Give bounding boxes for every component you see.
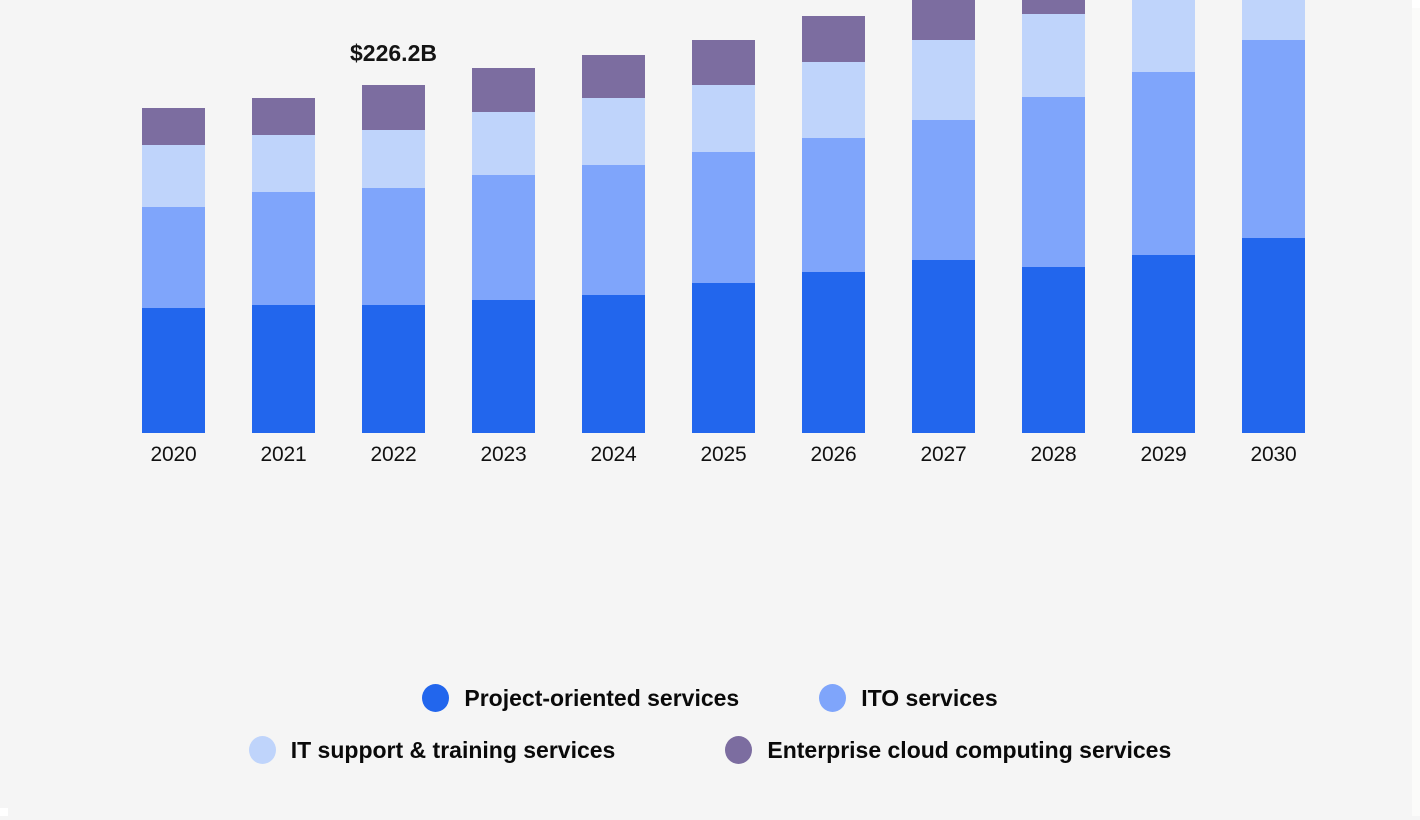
bar-segment-enterprise-cloud-computing-services[interactable]: [142, 108, 205, 145]
bar-stack: [472, 68, 535, 433]
bar-segment-ito-services[interactable]: [252, 192, 315, 305]
bar-stack: [692, 40, 755, 433]
bar-segment-enterprise-cloud-computing-services[interactable]: [252, 98, 315, 135]
bar-segment-project-oriented-services[interactable]: [582, 295, 645, 433]
bar-segment-enterprise-cloud-computing-services[interactable]: [582, 55, 645, 98]
chart-legend: Project-oriented services ITO services I…: [0, 672, 1420, 776]
legend-item-enterprise-cloud-computing-services[interactable]: Enterprise cloud computing services: [725, 736, 1171, 764]
x-axis-tick-label-2030: 2030: [1218, 443, 1329, 467]
bar-segment-it-support-training-services[interactable]: [252, 135, 315, 192]
legend-label: Enterprise cloud computing services: [767, 737, 1171, 764]
bar-segment-project-oriented-services[interactable]: [802, 272, 865, 433]
bar-segment-project-oriented-services[interactable]: [1242, 238, 1305, 433]
bar-value-label-2022: $226.2B: [338, 40, 449, 67]
bar-segment-it-support-training-services[interactable]: [142, 145, 205, 207]
x-axis-tick-label-2021: 2021: [228, 443, 339, 467]
x-axis-tick-label-2025: 2025: [668, 443, 779, 467]
bar-segment-it-support-training-services[interactable]: [1242, 0, 1305, 40]
bar-segment-project-oriented-services[interactable]: [472, 300, 535, 433]
legend-row-1: Project-oriented services ITO services: [0, 672, 1420, 724]
legend-swatch-icon: [725, 736, 752, 764]
legend-row-2: IT support & training services Enterpris…: [0, 724, 1420, 776]
bar-segment-it-support-training-services[interactable]: [1132, 0, 1195, 72]
x-axis-tick-label-2024: 2024: [558, 443, 669, 467]
bar-segment-ito-services[interactable]: [142, 207, 205, 308]
legend-swatch-icon: [249, 736, 276, 764]
bar-segment-project-oriented-services[interactable]: [1132, 255, 1195, 433]
bar-segment-ito-services[interactable]: [912, 120, 975, 260]
bar-segment-enterprise-cloud-computing-services[interactable]: [912, 0, 975, 40]
bar-segment-project-oriented-services[interactable]: [362, 305, 425, 433]
legend-item-it-support-training-services[interactable]: IT support & training services: [249, 736, 616, 764]
bar-segment-it-support-training-services[interactable]: [362, 130, 425, 188]
bar-segment-enterprise-cloud-computing-services[interactable]: [692, 40, 755, 85]
bar-segment-ito-services[interactable]: [1022, 97, 1085, 267]
bar-segment-enterprise-cloud-computing-services[interactable]: [362, 85, 425, 130]
bar-segment-project-oriented-services[interactable]: [692, 283, 755, 433]
x-axis-tick-label-2028: 2028: [998, 443, 1109, 467]
stacked-bar-chart: 20202021$226.2B2022202320242025202620272…: [0, 0, 1420, 660]
bar-segment-enterprise-cloud-computing-services[interactable]: [1022, 0, 1085, 14]
legend-item-project-oriented-services[interactable]: Project-oriented services: [422, 684, 739, 712]
x-axis-tick-label-2022: 2022: [338, 443, 449, 467]
x-axis-tick-label-2023: 2023: [448, 443, 559, 467]
bar-stack: [362, 85, 425, 433]
x-axis-tick-label-2020: 2020: [118, 443, 229, 467]
legend-label: ITO services: [861, 685, 997, 712]
bar-stack: [1132, 0, 1195, 433]
bar-stack: [142, 108, 205, 433]
bar-stack: [252, 98, 315, 433]
x-axis-tick-label-2029: 2029: [1108, 443, 1219, 467]
bar-stack: [1242, 0, 1305, 433]
bar-segment-it-support-training-services[interactable]: [1022, 14, 1085, 97]
bar-segment-project-oriented-services[interactable]: [1022, 267, 1085, 433]
bar-segment-ito-services[interactable]: [1132, 72, 1195, 255]
page-edge-bottom: [0, 816, 1420, 820]
bar-segment-it-support-training-services[interactable]: [802, 62, 865, 138]
bar-segment-ito-services[interactable]: [472, 175, 535, 300]
bar-stack: [1022, 0, 1085, 433]
bar-segment-ito-services[interactable]: [692, 152, 755, 283]
bar-stack: [802, 16, 865, 433]
bar-segment-ito-services[interactable]: [362, 188, 425, 305]
bar-segment-it-support-training-services[interactable]: [912, 40, 975, 120]
bar-segment-it-support-training-services[interactable]: [692, 85, 755, 152]
bar-segment-project-oriented-services[interactable]: [252, 305, 315, 433]
bar-segment-ito-services[interactable]: [582, 165, 645, 295]
bar-segment-ito-services[interactable]: [1242, 40, 1305, 238]
bar-segment-project-oriented-services[interactable]: [912, 260, 975, 433]
x-axis-tick-label-2026: 2026: [778, 443, 889, 467]
bar-segment-project-oriented-services[interactable]: [142, 308, 205, 433]
bar-stack: [582, 55, 645, 433]
bar-segment-it-support-training-services[interactable]: [582, 98, 645, 165]
legend-label: IT support & training services: [291, 737, 616, 764]
legend-swatch-icon: [422, 684, 449, 712]
bar-stack: [912, 0, 975, 433]
legend-swatch-icon: [819, 684, 846, 712]
legend-label: Project-oriented services: [464, 685, 739, 712]
bar-segment-it-support-training-services[interactable]: [472, 112, 535, 175]
bar-segment-enterprise-cloud-computing-services[interactable]: [802, 16, 865, 62]
bar-segment-ito-services[interactable]: [802, 138, 865, 272]
bar-segment-enterprise-cloud-computing-services[interactable]: [472, 68, 535, 112]
x-axis-tick-label-2027: 2027: [888, 443, 999, 467]
legend-item-ito-services[interactable]: ITO services: [819, 684, 997, 712]
